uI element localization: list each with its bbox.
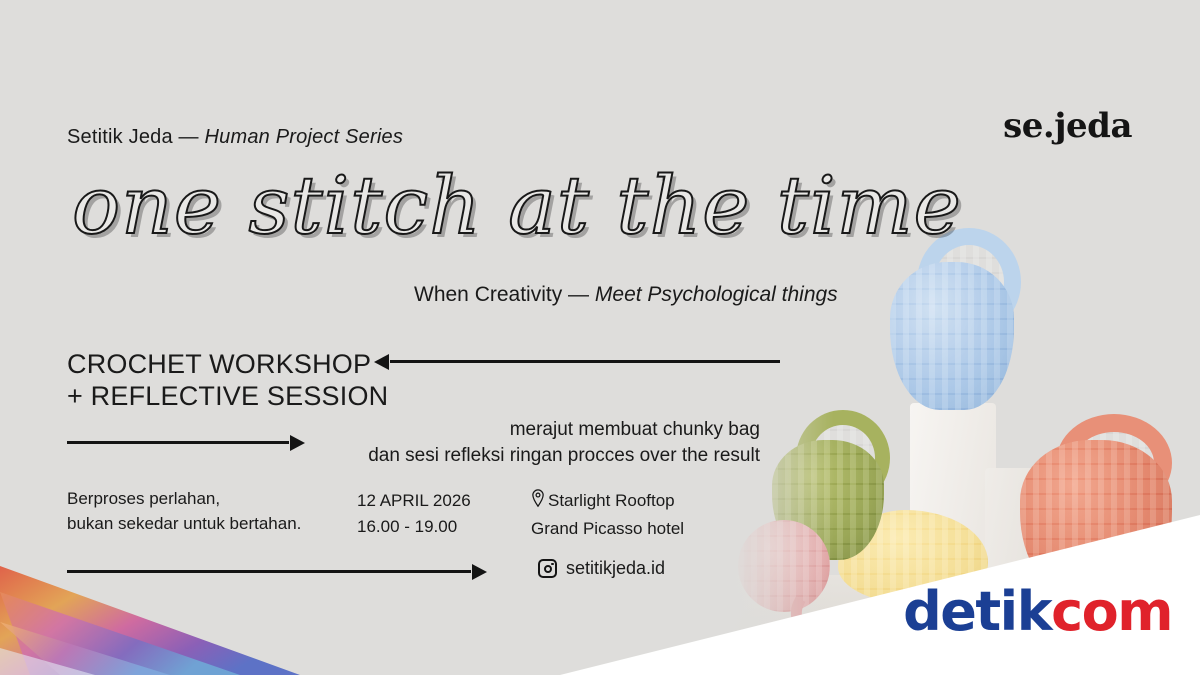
subheadline: When Creativity — Meet Psychological thi… [414,283,838,307]
color-ribbon [0,530,520,675]
detikcom-detik: detik [903,580,1051,643]
brand-line-series: Human Project Series [205,126,404,148]
description-line-2: dan sesi refleksi ringan procces over th… [320,443,760,469]
brand-line: Setitik Jeda — Human Project Series [67,126,403,149]
page-title: one stitch at the time [72,166,962,246]
detikcom-com: com [1051,580,1172,643]
brand-line-prefix: Setitik Jeda — [67,126,205,148]
blue-bag-body [890,262,1014,410]
detikcom-watermark: detikcom [903,585,1172,639]
venue-name: Starlight Rooftop [548,491,675,510]
blue-chunky-knit-bag [890,262,1014,410]
description-block: merajut membuat chunky bag dan sesi refl… [320,417,760,468]
arrow-left-pointing [390,360,780,363]
workshop-line-1: CROCHET WORKSHOP [67,348,388,380]
tagline-block: Berproses perlahan, bukan sekedar untuk … [67,487,301,536]
location-pin-icon [531,489,545,516]
description-line-1: merajut membuat chunky bag [320,417,760,443]
sejeda-logo: se.jeda [1003,106,1132,146]
instagram-icon [538,559,557,578]
event-date: 12 APRIL 2026 [357,488,471,514]
workshop-line-2: + REFLECTIVE SESSION [67,380,388,412]
poster-canvas: Setitik Jeda — Human Project Series se.j… [0,0,1200,675]
subheadline-prefix: When Creativity — [414,283,595,306]
tagline-line-1: Berproses perlahan, [67,487,301,512]
venue-line-1: Starlight Rooftop [531,488,684,516]
arrow-right-workshop [67,441,289,444]
subheadline-italic: Meet Psychological things [595,283,838,306]
workshop-heading: CROCHET WORKSHOP + REFLECTIVE SESSION [67,348,388,413]
